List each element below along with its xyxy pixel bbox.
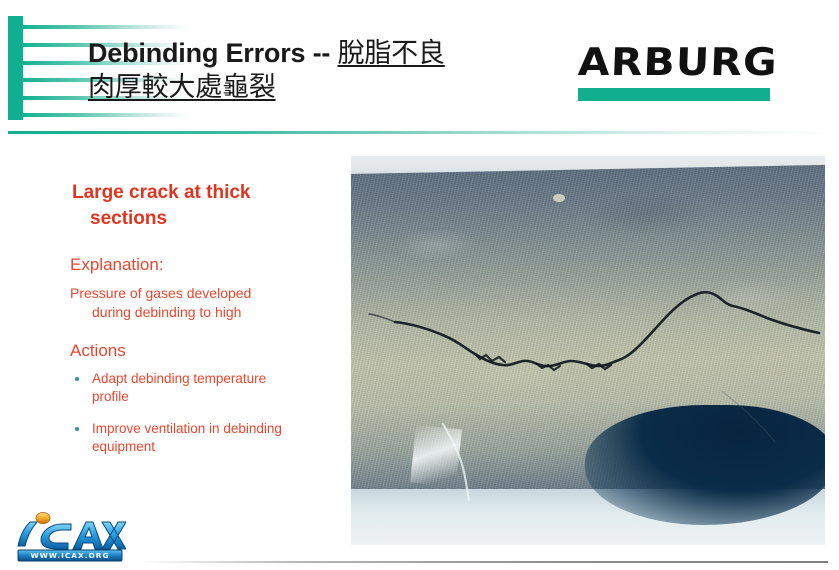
list-item-line-1: Improve ventilation in debinding: [92, 421, 282, 436]
footer-divider: [138, 561, 828, 563]
arburg-wordmark: ARBURG: [577, 42, 786, 82]
slide-canvas: Debinding Errors -- 脫脂不良 肉厚較大處龜裂 ARBURG …: [0, 0, 839, 570]
content-column: Large crack at thick sections Explanatio…: [62, 180, 342, 470]
list-item-line-1: Adapt debinding temperature: [92, 371, 266, 386]
list-item: Improve ventilation in debinding equipme…: [70, 420, 342, 456]
crack-overlay: [351, 156, 825, 545]
list-item-line-2: equipment: [92, 438, 342, 456]
explanation-text: Pressure of gases developed during debin…: [70, 284, 342, 322]
icax-logo[interactable]: WWW.ICAX.ORG: [10, 510, 126, 562]
list-item-line-2: profile: [92, 388, 342, 406]
content-heading-line-1: Large crack at thick: [72, 182, 250, 203]
icax-logo-graphic: WWW.ICAX.ORG: [10, 510, 126, 562]
header-divider: [8, 131, 833, 134]
arburg-logo-bar: [578, 88, 770, 101]
actions-label: Actions: [70, 340, 342, 362]
explanation-line-1: Pressure of gases developed: [70, 285, 251, 301]
title-chinese-1: 脫脂不良: [338, 38, 445, 68]
explanation-label: Explanation:: [70, 254, 342, 276]
specimen-photo-frame: [351, 156, 825, 545]
content-heading: Large crack at thick sections: [74, 180, 342, 232]
page-title: Debinding Errors -- 脫脂不良 肉厚較大處龜裂: [88, 36, 558, 104]
content-heading-line-2: sections: [74, 206, 342, 232]
specimen-photo: [351, 156, 825, 545]
decorative-vertical-bar: [8, 16, 23, 120]
explanation-line-2: during debinding to high: [70, 303, 342, 322]
decorative-line: [20, 113, 188, 117]
title-chinese-2: 肉厚較大處龜裂: [88, 72, 276, 102]
list-item: Adapt debinding temperature profile: [70, 370, 342, 406]
bullet-icon: [75, 427, 79, 431]
decorative-line: [20, 25, 188, 29]
title-line-1: Debinding Errors -- 脫脂不良: [88, 36, 558, 70]
arburg-logo: ARBURG: [578, 42, 770, 101]
title-line-2: 肉厚較大處龜裂: [88, 70, 558, 104]
title-english: Debinding Errors --: [88, 38, 338, 68]
bullet-icon: [75, 377, 79, 381]
actions-list: Adapt debinding temperature profile Impr…: [62, 370, 342, 456]
icax-url-text: WWW.ICAX.ORG: [30, 551, 109, 560]
